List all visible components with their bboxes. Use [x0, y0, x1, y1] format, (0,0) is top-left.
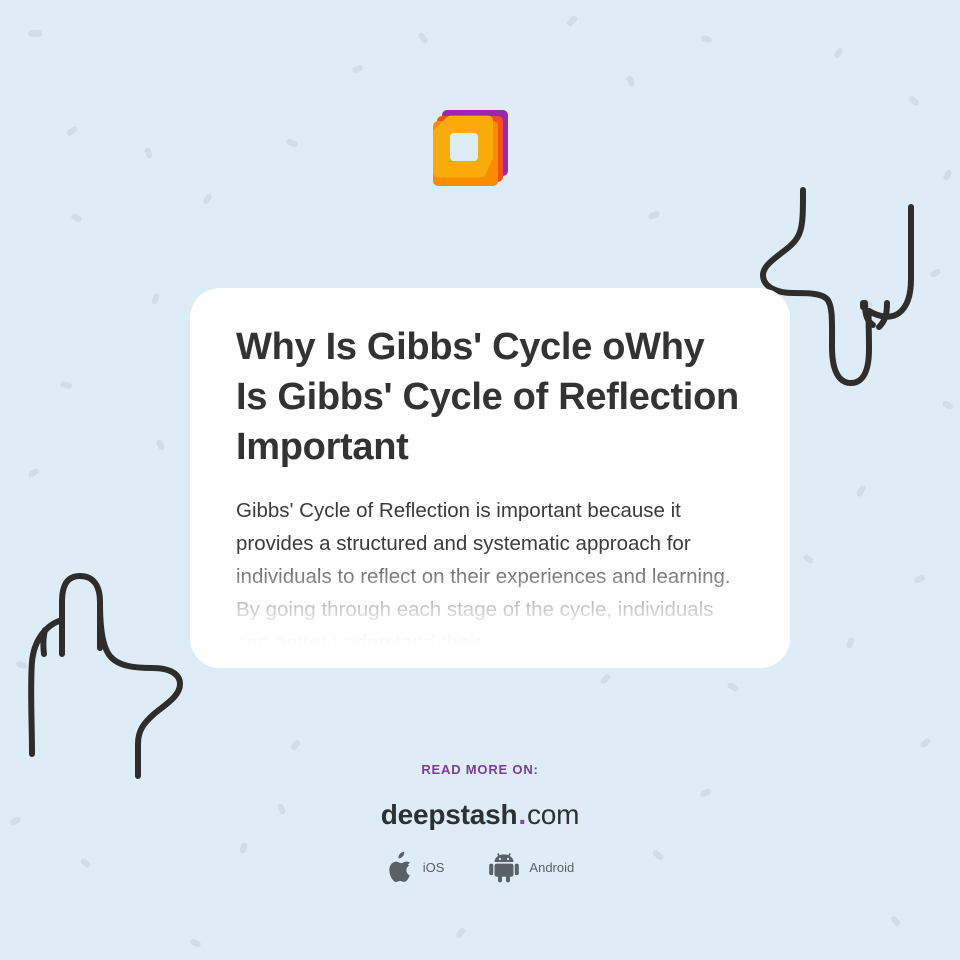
ios-label: iOS: [423, 860, 445, 875]
deepstash-logo: [425, 100, 521, 196]
confetti-particle: [941, 400, 954, 410]
confetti-particle: [27, 467, 39, 478]
footer: READ MORE ON: deepstash.com iOS: [0, 762, 960, 883]
confetti-particle: [455, 927, 466, 939]
pointing-up-hand-line-art-icon: [18, 558, 218, 790]
android-label: Android: [529, 860, 574, 875]
confetti-particle: [833, 47, 844, 59]
confetti-particle: [189, 938, 202, 948]
confetti-particle: [285, 138, 298, 148]
article-card: Why Is Gibbs' Cycle oWhy Is Gibbs' Cycle…: [190, 288, 790, 668]
confetti-particle: [913, 574, 925, 583]
confetti-particle: [802, 553, 814, 564]
confetti-particle: [202, 193, 213, 206]
app-store-badges: iOS: [0, 851, 960, 883]
confetti-particle: [28, 30, 42, 37]
confetti-particle: [726, 681, 739, 692]
article-card-inner: Why Is Gibbs' Cycle oWhy Is Gibbs' Cycle…: [190, 288, 790, 668]
confetti-particle: [417, 31, 429, 44]
confetti-particle: [151, 293, 160, 305]
brand-tld: com: [527, 799, 579, 830]
android-icon: [488, 851, 520, 883]
confetti-particle: [290, 739, 302, 751]
confetti-particle: [566, 15, 578, 28]
confetti-particle: [70, 213, 83, 224]
ios-store-badge[interactable]: iOS: [386, 851, 445, 883]
confetti-particle: [647, 210, 660, 221]
article-body-text: Gibbs' Cycle of Reflection is important …: [236, 494, 744, 659]
confetti-particle: [351, 64, 363, 73]
confetti-particle: [855, 484, 866, 497]
confetti-particle: [890, 915, 902, 927]
confetti-particle: [907, 95, 920, 107]
confetti-particle: [625, 75, 635, 88]
confetti-particle: [155, 439, 165, 452]
page-title: Why Is Gibbs' Cycle oWhy Is Gibbs' Cycle…: [236, 322, 744, 472]
confetti-particle: [65, 125, 78, 137]
confetti-particle: [919, 737, 931, 749]
confetti-particle: [846, 637, 856, 649]
apple-icon: [386, 851, 414, 883]
read-more-label: READ MORE ON:: [0, 762, 960, 777]
brand-wordmark: deepstash.com: [0, 799, 960, 831]
stacked-layered-squares-icon: [433, 110, 508, 186]
android-store-badge[interactable]: Android: [488, 851, 574, 883]
share-card-canvas: Why Is Gibbs' Cycle oWhy Is Gibbs' Cycle…: [0, 0, 960, 960]
confetti-particle: [144, 147, 153, 159]
brand-dot: .: [517, 799, 527, 830]
brand-name: deepstash: [381, 799, 518, 830]
confetti-particle: [59, 381, 72, 390]
confetti-particle: [700, 34, 712, 43]
confetti-particle: [599, 673, 611, 685]
